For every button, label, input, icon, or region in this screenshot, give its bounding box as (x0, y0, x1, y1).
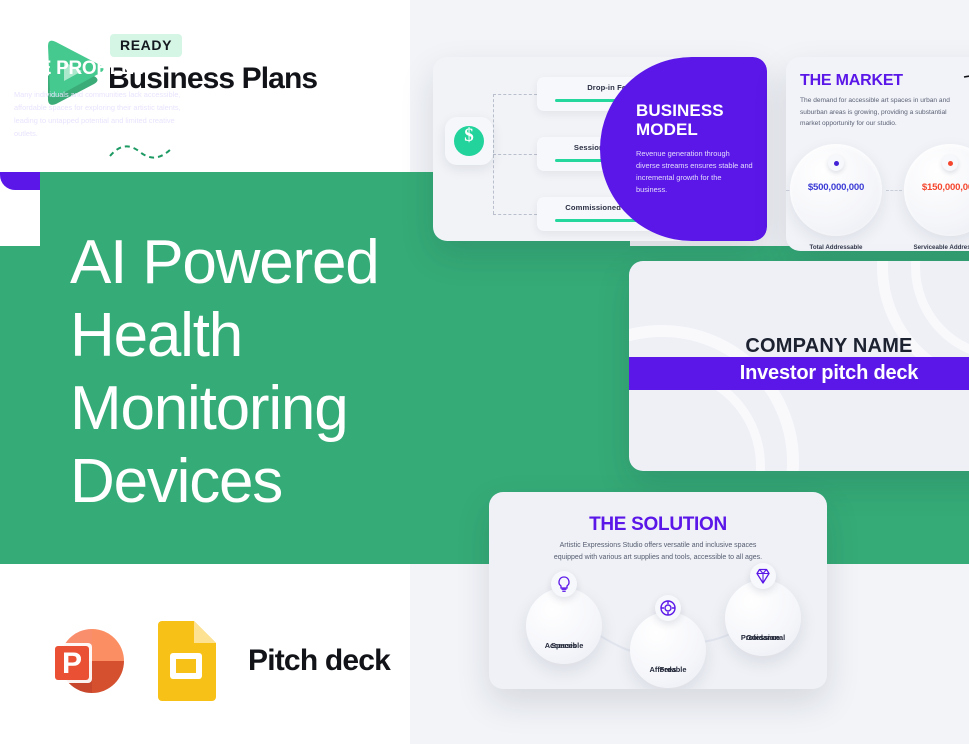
slide-the-solution[interactable]: THE SOLUTION Artistic Expressions Studio… (489, 492, 827, 689)
solution-node: AffordableFees (630, 612, 706, 688)
dollar-sign-icon: $ (445, 117, 493, 165)
slide-heading: BUSINESS MODEL (636, 101, 753, 139)
google-slides-icon (152, 619, 220, 703)
curved-arrow-icon (962, 71, 969, 111)
slide-title: THE PROBLEM (14, 58, 149, 80)
slide-body-text: Revenue generation through diverse strea… (636, 148, 753, 196)
slide-subtitle: Investor pitch deck (629, 357, 969, 390)
heading-line-1: BUSINESS (636, 101, 753, 120)
connector-line-3 (493, 214, 537, 215)
node-label-2: Fees (630, 664, 706, 675)
powerpoint-icon: P (42, 617, 130, 705)
heading-line-2: MODEL (636, 120, 753, 139)
connector-line-1 (493, 94, 537, 95)
slide-title: COMPANY NAME (629, 335, 969, 358)
market-metric-tam: $500,000,000 (790, 144, 882, 236)
caption-line-1: Serviceable Addressable (892, 243, 969, 251)
market-metric-sam: $150,000,000 (904, 144, 969, 236)
metric-caption: Serviceable Addressable Market (SAM) (892, 243, 969, 251)
metric-value: $150,000,000 (904, 182, 969, 193)
slide-title: THE MARKET (800, 72, 903, 90)
hero-line-4: Devices (70, 445, 470, 518)
connector-line-2 (493, 154, 537, 155)
metric-value: $500,000,000 (790, 182, 882, 193)
solution-node: ProfessionalGuidance (725, 580, 801, 656)
svg-text:P: P (62, 647, 82, 680)
lightbulb-icon (551, 571, 577, 597)
target-icon (655, 595, 681, 621)
node-label-2: Spaces (526, 640, 602, 651)
slide-business-model[interactable]: $ Drop-in Fees Session Workshops Commiss… (433, 57, 767, 241)
poster-canvas: READY Business Plans AI Powered Health M… (0, 0, 969, 744)
format-strip: P Pitch deck (42, 616, 390, 706)
format-label: Pitch deck (248, 644, 390, 678)
hero-line-1: AI Powered (70, 226, 470, 299)
solution-node: AccessibleSpaces (526, 588, 602, 664)
slide-body-text: The demand for accessible art spaces in … (800, 95, 958, 130)
metric-dot (828, 155, 844, 171)
squiggle-decoration-icon (108, 140, 178, 162)
ready-badge: READY (110, 34, 182, 57)
slide-the-market[interactable]: THE MARKET The demand for accessible art… (786, 57, 969, 251)
caption-line-1: Total Addressable (786, 243, 894, 251)
node-label-2: Guidance (725, 632, 801, 643)
metric-caption: Total Addressable Market (TAM) (786, 243, 894, 251)
slide-body-text: Many individuals and communities lack ac… (14, 88, 189, 140)
diamond-icon (750, 563, 776, 589)
metric-dot (942, 155, 958, 171)
investor-pitch-bar: Investor pitch deck (0, 357, 969, 390)
